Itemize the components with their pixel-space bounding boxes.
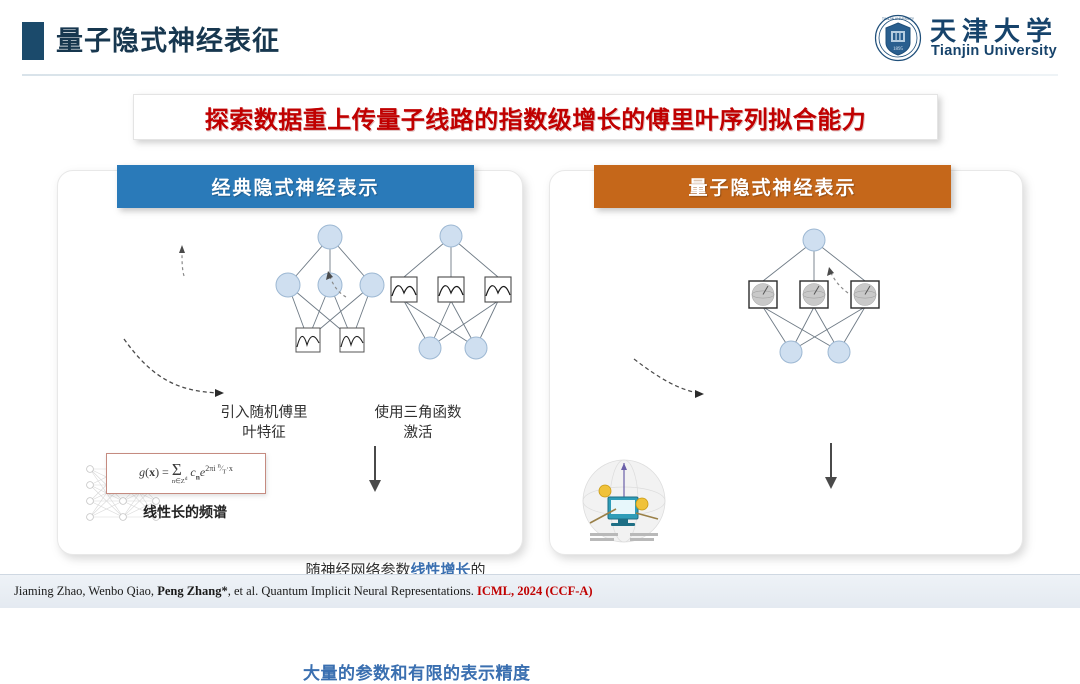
label-line-2: 叶特征	[242, 425, 286, 441]
classical-formula: g(x) = Σn∈Zd cne2πi n⁄T·x	[139, 463, 233, 484]
quantum-panel-header: 量子隐式神经表示	[594, 165, 951, 208]
right-panel-arrows	[550, 171, 1024, 556]
page-title: 量子隐式神经表征	[56, 22, 280, 60]
university-logo: 1895 TIANJIN UNIVERSITY 天津大学 Tianjin Uni…	[874, 10, 1060, 68]
svg-text:1895: 1895	[893, 47, 904, 52]
classical-formula-box: g(x) = Σn∈Zd cne2πi n⁄T·x	[106, 453, 266, 494]
citation-corresponding-author: Peng Zhang*	[157, 584, 228, 598]
random-fourier-feature-label: 引入随机傅里 叶特征	[204, 403, 324, 443]
trig-activation-label: 使用三角函数 激活	[363, 403, 473, 443]
header-divider	[22, 74, 1058, 76]
classical-inr-panel: g(x) = Σn∈Zd cne2πi n⁄T·x 引入随机傅里 叶特征 使用三…	[57, 170, 523, 555]
citation: Jiaming Zhao, Wenbo Qiao, Peng Zhang*, e…	[14, 584, 593, 599]
citation-venue: ICML, 2024 (CCF-A)	[477, 584, 593, 598]
page-footer: Jiaming Zhao, Wenbo Qiao, Peng Zhang*, e…	[0, 574, 1080, 608]
page-header: 量子隐式神经表征 1895 TIANJIN UNIVERSITY 天津大学 Ti…	[0, 0, 1080, 80]
classical-panel-header-text: 经典隐式神经表示	[211, 173, 379, 200]
citation-title: , et al. Quantum Implicit Neural Represe…	[228, 584, 477, 598]
label-line-1: 使用三角函数	[375, 405, 462, 421]
key-message-banner: 探索数据重上传量子线路的指数级增长的傅里叶序列拟合能力	[133, 94, 938, 140]
label-line-2: 激活	[404, 425, 433, 441]
university-seal-icon: 1895 TIANJIN UNIVERSITY	[874, 14, 922, 62]
logo-name-en: Tianjin University	[931, 43, 1057, 59]
quantum-inr-panel: f(h) = ΣK,J aK,Jei(ΛK−ΛJ)·h 指数长的频谱 使用变分量…	[549, 170, 1023, 555]
linear-spectrum-label: 线性长的频谱	[143, 502, 227, 522]
title-accent-bar	[22, 22, 44, 60]
classical-conclusion: 大量的参数和有限的表示精度	[303, 659, 531, 684]
label-line-1: 引入随机傅里	[221, 405, 308, 421]
svg-text:TIANJIN UNIVERSITY: TIANJIN UNIVERSITY	[882, 17, 915, 21]
quantum-panel-header-text: 量子隐式神经表示	[688, 173, 856, 200]
key-message-text: 探索数据重上传量子线路的指数级增长的傅里叶序列拟合能力	[205, 100, 867, 135]
citation-authors-pre: Jiaming Zhao, Wenbo Qiao,	[14, 584, 157, 598]
left-panel-arrows	[58, 171, 524, 556]
classical-panel-header: 经典隐式神经表示	[117, 165, 474, 208]
